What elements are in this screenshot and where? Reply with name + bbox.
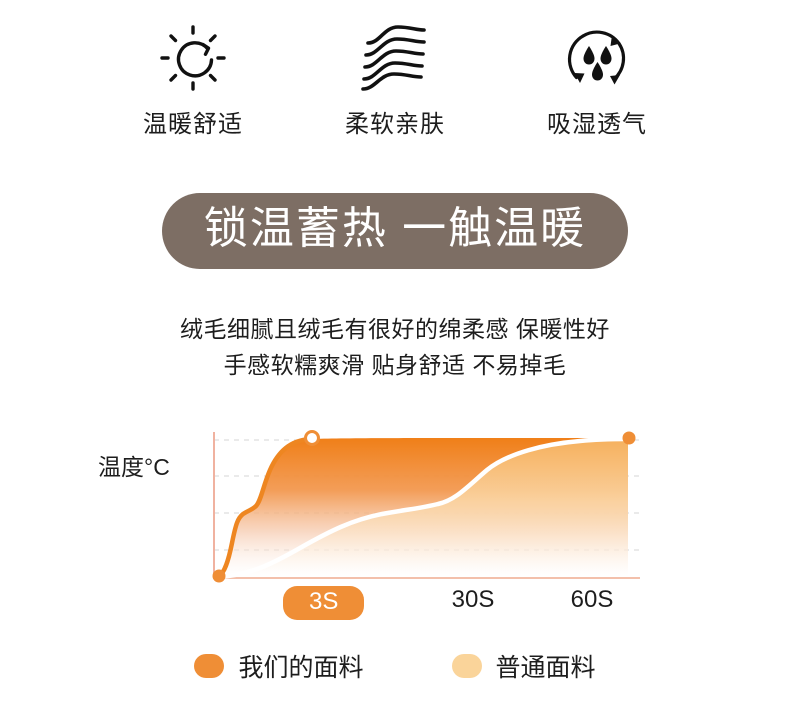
feature-item-warm: 温暖舒适 xyxy=(118,18,268,139)
feature-label: 吸湿透气 xyxy=(547,104,647,139)
chart-marker-60s[interactable] xyxy=(623,432,636,445)
feature-highlights: 温暖舒适 柔软亲肤 xyxy=(0,18,790,139)
feature-item-soft: 柔软亲肤 xyxy=(320,18,470,139)
temperature-chart: 温度°C xyxy=(0,418,790,633)
x-tick-3s[interactable]: 3S xyxy=(283,586,364,620)
sun-rotate-icon xyxy=(154,18,232,98)
chart-marker-start[interactable] xyxy=(213,570,226,583)
legend-label: 普通面料 xyxy=(496,648,596,684)
wave-lines-icon xyxy=(354,18,436,98)
feature-item-breathable: 吸湿透气 xyxy=(522,18,672,139)
legend-item-normal: 普通面料 xyxy=(452,648,596,684)
legend-item-ours: 我们的面料 xyxy=(194,648,363,684)
legend-swatch-icon xyxy=(194,654,224,678)
chart-legend: 我们的面料 普通面料 xyxy=(0,648,790,684)
legend-label: 我们的面料 xyxy=(238,648,363,684)
chart-marker-3s[interactable] xyxy=(306,432,319,445)
legend-swatch-icon xyxy=(452,654,482,678)
chart-x-axis-labels: 3S 30S 60S xyxy=(0,586,790,618)
moisture-cycle-icon xyxy=(557,18,637,98)
description-line-1: 绒毛细腻且绒毛有很好的绵柔感 保暖性好 xyxy=(0,312,790,348)
x-tick-60s: 60S xyxy=(562,586,622,614)
feature-label: 柔软亲肤 xyxy=(345,104,445,139)
headline-banner-wrap: 锁温蓄热 一触温暖 xyxy=(0,193,790,269)
chart-canvas xyxy=(0,418,790,593)
headline-banner: 锁温蓄热 一触温暖 xyxy=(162,193,628,269)
description-block: 绒毛细腻且绒毛有很好的绵柔感 保暖性好 手感软糯爽滑 贴身舒适 不易掉毛 xyxy=(0,312,790,383)
feature-label: 温暖舒适 xyxy=(143,104,243,139)
headline-text: 锁温蓄热 一触温暖 xyxy=(204,204,586,253)
description-line-2: 手感软糯爽滑 贴身舒适 不易掉毛 xyxy=(0,348,790,384)
x-tick-30s: 30S xyxy=(443,586,503,614)
